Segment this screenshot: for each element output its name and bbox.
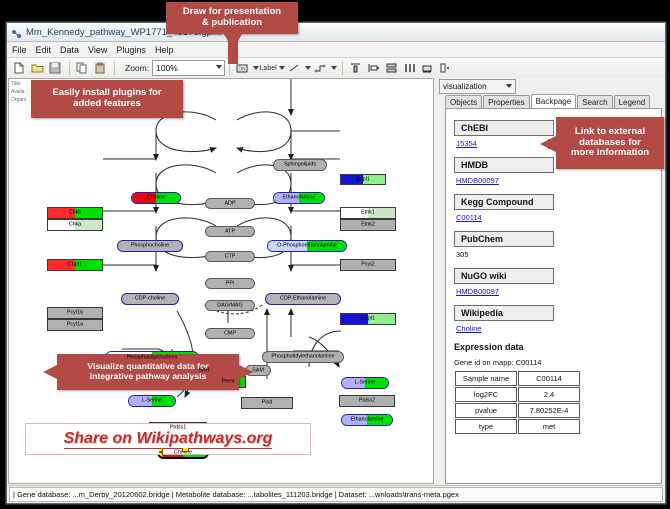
connector-icon[interactable] [312, 60, 328, 76]
label-dropdown[interactable] [278, 61, 286, 75]
copy-icon[interactable] [74, 60, 90, 76]
line-dropdown[interactable] [304, 61, 312, 75]
node-label: SAM [246, 368, 270, 373]
node-label: Pcyt1b [48, 310, 102, 315]
metabolite-node-cdp-choline[interactable]: CDP-choline [121, 293, 179, 305]
distribute-icon[interactable] [401, 60, 417, 76]
callout-visualize-arrow-left [43, 365, 57, 379]
expression-data-heading: Expression data [454, 342, 653, 352]
window-titlebar[interactable]: Mm_Kennedy_pathway_WP1771_45176.gpml [7, 23, 665, 42]
toolbar-separator [69, 61, 70, 75]
expr-value-log2fc: 2.4 [518, 387, 580, 402]
callout-draw: Draw for presentation & publication [166, 2, 298, 34]
menu-file[interactable]: File [12, 45, 27, 55]
node-label: Etnk1 [341, 210, 395, 215]
callout-plugins: Easily install plugins for added feature… [31, 80, 183, 118]
node-label: Ethanolamine [342, 417, 392, 422]
node-label: Choline [132, 195, 180, 200]
node-label: L-Serine [129, 398, 175, 403]
node-label: SAH [192, 368, 216, 373]
node-label: Chkb [48, 210, 102, 215]
db-entry-kegg: Kegg Compound C00114 [454, 189, 653, 222]
node-label: O-Phosphoethanolamine [268, 243, 346, 248]
db-link-hmdb[interactable]: HMDB00097 [456, 176, 653, 185]
chevron-down-icon [506, 84, 512, 88]
node-label: Etnk2 [341, 222, 395, 227]
node-label: Phosphatidylcholines [106, 355, 198, 360]
menu-plugins[interactable]: Plugins [116, 45, 146, 55]
svg-text:DN: DN [238, 67, 246, 73]
metabolite-node-cdp-ethanolamine[interactable]: CDP-Ethanolamine [265, 293, 341, 305]
metabolite-node-adp[interactable]: ADP [205, 198, 255, 209]
table-row: type met [455, 419, 580, 434]
main-toolbar: Zoom: 100% DN Label [7, 58, 665, 79]
node-label: Phosphocholine [118, 243, 182, 248]
pathvisio-icon [11, 27, 22, 38]
node-label: Pcyt1a [48, 322, 102, 327]
gene-node-etnk2[interactable]: Etnk2 [340, 219, 396, 231]
node-label: Sphingolipids [274, 162, 326, 167]
node-label: Pcyt2 [341, 262, 395, 267]
tab-search[interactable]: Search [577, 95, 612, 108]
db-entry-wikipedia: Wikipedia Choline [454, 300, 653, 333]
metabolite-node-o-phosphoethanolamine[interactable]: O-Phosphoethanolamine [267, 240, 347, 252]
expr-label-pvalue: pvalue [455, 403, 517, 418]
tab-backpage[interactable]: Backpage [531, 94, 577, 108]
connector-dropdown[interactable] [330, 61, 338, 75]
node-label: Chka [48, 222, 102, 227]
visualization-combobox[interactable]: visualization [439, 79, 516, 94]
menubar: File Edit Data View Plugins Help [7, 42, 665, 58]
callout-link: Link to external databases for more info… [556, 117, 664, 169]
expr-label-log2fc: log2FC [455, 387, 517, 402]
gene-node-chpt1[interactable]: Chpt1 [47, 259, 103, 271]
label-icon[interactable]: Label [260, 60, 276, 76]
metabolite-node-phosphocholine[interactable]: Phosphocholine [117, 240, 183, 252]
save-icon[interactable] [47, 60, 63, 76]
node-label: L-Serine [342, 380, 388, 385]
expr-value-sample: C00114 [518, 371, 580, 386]
gene-node-pisd[interactable]: Pisd [241, 397, 293, 409]
db-entry-pubchem: PubChem 305 [454, 226, 653, 259]
table-row: log2FC 2.4 [455, 387, 580, 402]
db-header-chebi: ChEBI [454, 120, 554, 136]
tab-objects[interactable]: Objects [445, 95, 482, 108]
node-label: DAG/MAG [206, 303, 254, 308]
node-label: PPi [206, 281, 254, 286]
callout-link-stem [548, 139, 560, 149]
table-row: pvalue 7.80252E-4 [455, 403, 580, 418]
statusbar-text: | Gene database: ...m_Derby_20120602.bri… [9, 487, 663, 502]
metabolite-node-ctp[interactable]: CTP [205, 251, 255, 262]
gene-node-ptdss2[interactable]: Ptdss2 [339, 395, 395, 407]
pathway-canvas-panel[interactable]: Title: Availa Organi [8, 78, 434, 484]
share-banner-text: Share on Wikipathways.org [64, 430, 273, 449]
metabolite-node-ppi[interactable]: PPi [205, 278, 255, 289]
node-label: Phosphatidylethanolamine [263, 354, 343, 359]
gene-node-etnk1[interactable]: Etnk1 [340, 207, 396, 219]
order-icon[interactable] [437, 60, 453, 76]
open-folder-icon[interactable] [29, 60, 45, 76]
callout-visualize-line2: integrative pathway analysis [90, 372, 207, 382]
node-label: CTP [206, 254, 254, 259]
metabolite-node-phosphatidylethanolamine[interactable]: Phosphatidylethanolamine [262, 351, 344, 363]
zoom-combobox[interactable]: 100% [152, 60, 225, 76]
zoom-label: Zoom: [125, 63, 149, 73]
metabolite-node-choline-top[interactable]: Choline [131, 192, 181, 204]
metabolite-node-l-serine-left[interactable]: L-Serine [128, 395, 176, 407]
callout-draw-line2: & publication [202, 18, 262, 29]
group-icon[interactable] [419, 60, 435, 76]
node-label: ATP [206, 229, 254, 234]
gene-node-chkb[interactable]: Chkb [47, 207, 103, 219]
callout-link-line1: Link to external [575, 127, 645, 138]
tab-properties[interactable]: Properties [483, 95, 529, 108]
metabolite-node-ethanolamine-top[interactable]: Ethanolamine [273, 192, 325, 204]
db-header-kegg: Kegg Compound [454, 194, 554, 210]
stack-icon[interactable] [383, 60, 399, 76]
node-label: ADP [206, 201, 254, 206]
node-label: CDP-choline [122, 296, 178, 301]
metabolite-node-sphingolipids[interactable]: Sphingolipids [273, 159, 327, 171]
gene-node-pcyt1a[interactable]: Pcyt1a [47, 319, 103, 331]
new-file-icon[interactable] [11, 60, 27, 76]
menu-help[interactable]: Help [155, 45, 174, 55]
db-header-wikipedia: Wikipedia [454, 305, 554, 321]
expr-label-sample: Sample name [455, 371, 517, 386]
callout-plugins-line2: added features [73, 99, 141, 110]
node-label: Ptdss1 [150, 425, 206, 430]
expr-label-type: type [455, 419, 517, 434]
screenshot-root: Mm_Kennedy_pathway_WP1771_45176.gpml Fil… [0, 0, 670, 509]
node-label: Pemt [211, 379, 245, 384]
node-label: Ptdss2 [340, 398, 394, 403]
expression-table: Sample name C00114 log2FC 2.4 pvalue 7.8… [454, 370, 581, 435]
db-link-kegg[interactable]: C00114 [456, 213, 653, 222]
expr-value-pvalue: 7.80252E-4 [518, 403, 580, 418]
align-left-icon[interactable] [365, 60, 381, 76]
tab-legend[interactable]: Legend [614, 95, 651, 108]
metabolite-node-dagmag[interactable]: DAG/MAG [205, 300, 255, 311]
db-header-nugo: NuGO wiki [454, 268, 554, 284]
expr-value-type: met [518, 419, 580, 434]
node-label: Ethanolamine [274, 195, 324, 200]
align-top-icon[interactable] [347, 60, 363, 76]
menu-view[interactable]: View [88, 45, 107, 55]
metabolite-node-l-serine-right[interactable]: L-Serine [341, 377, 389, 389]
pathway-canvas[interactable]: Title: Availa Organi [9, 79, 433, 483]
zoom-value: 100% [156, 63, 178, 73]
paste-icon[interactable] [92, 60, 108, 76]
callout-draw-stem [228, 34, 238, 64]
toolbar-separator [114, 61, 115, 75]
metabolite-node-atp[interactable]: ATP [205, 226, 255, 237]
metabolite-node-cmp[interactable]: CMP [205, 328, 255, 339]
table-row: Sample name C00114 [455, 371, 580, 386]
visualization-row: visualization [437, 78, 664, 94]
gene-node-chka[interactable]: Chka [47, 219, 103, 231]
menu-data[interactable]: Data [60, 45, 79, 55]
db-value-pubchem: 305 [456, 250, 653, 259]
db-link-wikipedia[interactable]: Choline [456, 324, 653, 333]
node-label: Sgpl1 [341, 177, 385, 182]
gene-node-pcyt2[interactable]: Pcyt2 [340, 259, 396, 271]
gene-id-line: Gene id on mapp: C00114 [454, 358, 653, 367]
side-panel-tabs: Objects Properties Backpage Search Legen… [437, 94, 664, 108]
metabolite-node-ethanolamine-bottom[interactable]: Ethanolamine [341, 414, 393, 426]
visualization-value: visualization [443, 82, 487, 91]
gene-node-sgpl1[interactable]: Sgpl1 [340, 174, 386, 185]
db-header-pubchem: PubChem [454, 231, 554, 247]
line-icon[interactable] [286, 60, 302, 76]
menu-edit[interactable]: Edit [36, 45, 52, 55]
node-label: Cept1 [341, 316, 395, 321]
pathvisio-window: Mm_Kennedy_pathway_WP1771_45176.gpml Fil… [6, 22, 666, 504]
node-label: CDP-Ethanolamine [266, 296, 340, 301]
db-header-hmdb: HMDB [454, 157, 554, 173]
toolbar-separator [342, 61, 343, 75]
db-entry-nugo: NuGO wiki HMDB00097 [454, 263, 653, 296]
db-link-nugo[interactable]: HMDB00097 [456, 287, 653, 296]
node-label: Pisd [242, 400, 292, 405]
statusbar: | Gene database: ...m_Derby_20120602.bri… [7, 485, 665, 503]
selection-handle[interactable] [182, 458, 189, 459]
gene-node-cept1[interactable]: Cept1 [340, 313, 396, 325]
gene-node-pcyt1b[interactable]: Pcyt1b [47, 307, 103, 319]
node-label: Chpt1 [48, 262, 102, 267]
callout-link-line3: more information [571, 148, 649, 159]
node-label: CMP [206, 331, 254, 336]
chevron-down-icon [216, 65, 222, 69]
